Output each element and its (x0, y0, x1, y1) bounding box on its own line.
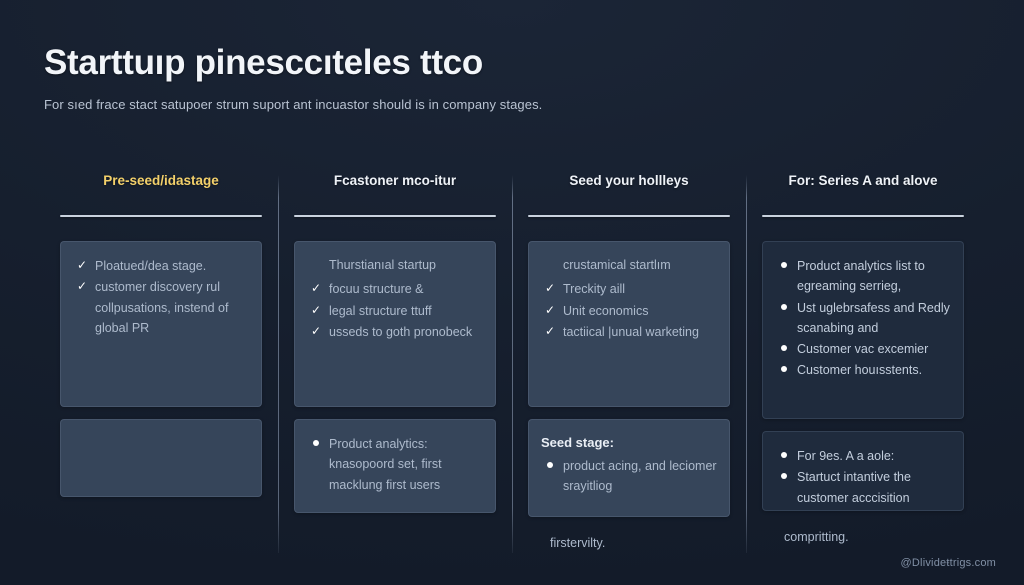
list-item: Startuct intantive the customer acccisit… (775, 467, 951, 508)
list-item-label: Product analytics list to egreaming serr… (797, 259, 925, 293)
card-stack: ✓Ploatued/dea stage.✓customer discovery … (60, 241, 262, 497)
list-item-label: focuu structure & (329, 282, 424, 296)
stage-column-3: Seed your hollleyscrustamical startlım✓T… (512, 172, 746, 553)
column-header-1: Pre-seed/idastage (60, 172, 262, 214)
list-item-label: Startuct intantive the customer acccisit… (797, 470, 911, 504)
card-lead-text: Thurstianıal startup (307, 256, 483, 275)
column-header-3: Seed your hollleys (528, 172, 730, 214)
page-title: Starttuıp pinesccıteles ttco (44, 44, 944, 83)
list-item: Customer vac excemier (775, 339, 951, 359)
bullet-list: ✓Ploatued/dea stage.✓customer discovery … (73, 256, 249, 338)
list-item: Customer houısstents. (775, 360, 951, 380)
check-bullet-icon: ✓ (75, 256, 89, 275)
list-item: ✓legal structure ttuff (307, 301, 483, 321)
column-header-label: For: Series A and alove (788, 172, 937, 190)
stage-column-4: For: Series A and aloveProduct analytics… (746, 172, 980, 553)
column-rule (528, 215, 730, 217)
list-item: product acing, and leciomer srayitliog (541, 456, 717, 497)
stage-columns-grid: Pre-seed/idastage✓Ploatued/dea stage.✓cu… (44, 172, 980, 532)
column-header-4: For: Series A and alove (762, 172, 964, 214)
list-item-label: Treckity aill (563, 282, 625, 296)
bullet-list: Product analytics list to egreaming serr… (775, 256, 951, 381)
bullet-list: ✓Treckity aill✓Unit economics✓tactiical … (541, 279, 717, 342)
column-header-label: Fcastoner mco-itur (334, 172, 456, 190)
list-item: Ust uglebrsafess and Redly scanabing and (775, 298, 951, 339)
list-item: ✓Unit economics (541, 301, 717, 321)
list-item: ✓customer discovery rul collpusations, i… (73, 277, 249, 338)
stage-card[interactable]: Thurstianıal startup✓focuu structure &✓l… (294, 241, 496, 407)
check-bullet-icon: ✓ (543, 279, 557, 298)
check-bullet-icon: ✓ (309, 279, 323, 298)
list-item-label: customer discovery rul collpusations, in… (95, 280, 228, 335)
column-rule (60, 215, 262, 217)
card-stack: Thurstianıal startup✓focuu structure &✓l… (294, 241, 496, 513)
dot-bullet-icon (313, 440, 319, 446)
column-header-2: Fcastoner mco-itur (294, 172, 496, 214)
list-item: ✓tactiical |unual warketing (541, 322, 717, 342)
footer-watermark: @Dlivideŧtrigs.com (901, 557, 996, 569)
dot-bullet-icon (781, 366, 787, 372)
dot-bullet-icon (781, 473, 787, 479)
check-bullet-icon: ✓ (75, 277, 89, 296)
card-overflow-text: firstervilty. (528, 533, 730, 553)
stage-card[interactable]: Product analytics: knasopoord set, first… (294, 419, 496, 513)
check-bullet-icon: ✓ (309, 301, 323, 320)
card-stack: Product analytics list to egreaming serr… (762, 241, 964, 547)
stage-card[interactable]: For 9es. A a aole:Startuct intantive the… (762, 431, 964, 511)
list-item-label: Customer houısstents. (797, 363, 922, 377)
list-item-label: tactiical |unual warketing (563, 325, 699, 339)
column-header-label: Pre-seed/idastage (103, 172, 219, 190)
check-bullet-icon: ✓ (543, 322, 557, 341)
column-rule (294, 215, 496, 217)
stage-card[interactable]: ✓Ploatued/dea stage.✓customer discovery … (60, 241, 262, 407)
stage-card[interactable]: Product analytics list to egreaming serr… (762, 241, 964, 419)
column-rule (762, 215, 964, 217)
list-item-label: Customer vac excemier (797, 342, 928, 356)
column-header-label: Seed your hollleys (569, 172, 688, 190)
dot-bullet-icon (547, 462, 553, 468)
bullet-list: product acing, and leciomer srayitliog (541, 456, 717, 497)
page-header: Starttuıp pinesccıteles ttco For sıed fr… (44, 44, 944, 112)
stage-card[interactable]: Seed stage:product acing, and leciomer s… (528, 419, 730, 517)
list-item: ✓usseds to goth pronobeck (307, 322, 483, 342)
card-title: Seed stage: (541, 434, 717, 452)
list-item-label: Ploatued/dea stage. (95, 259, 206, 273)
list-item-label: Unit economics (563, 304, 648, 318)
list-item: ✓focuu structure & (307, 279, 483, 299)
page-subtitle: For sıed frace stact satupoer strum supo… (44, 97, 944, 112)
list-item: ✓Treckity aill (541, 279, 717, 299)
list-item-label: Ust uglebrsafess and Redly scanabing and (797, 301, 950, 335)
list-item-label: legal structure ttuff (329, 304, 432, 318)
list-item: Product analytics list to egreaming serr… (775, 256, 951, 297)
card-stack: crustamical startlım✓Treckity aill✓Unit … (528, 241, 730, 553)
list-item-label: Product analytics: knasopoord set, first… (329, 437, 442, 492)
bullet-list: Product analytics: knasopoord set, first… (307, 434, 483, 495)
list-item: ✓Ploatued/dea stage. (73, 256, 249, 276)
bullet-list: ✓focuu structure &✓legal structure ttuff… (307, 279, 483, 342)
list-item-label: For 9es. A a aole: (797, 449, 894, 463)
card-overflow-text: compritting. (762, 527, 964, 547)
dot-bullet-icon (781, 345, 787, 351)
stage-column-1: Pre-seed/idastage✓Ploatued/dea stage.✓cu… (44, 172, 278, 553)
list-item: For 9es. A a aole: (775, 446, 951, 466)
stage-card[interactable] (60, 419, 262, 497)
dot-bullet-icon (781, 262, 787, 268)
stage-card[interactable]: crustamical startlım✓Treckity aill✓Unit … (528, 241, 730, 407)
infographic-page: Starttuıp pinesccıteles ttco For sıed fr… (0, 0, 1024, 585)
check-bullet-icon: ✓ (543, 301, 557, 320)
bullet-list: For 9es. A a aole:Startuct intantive the… (775, 446, 951, 508)
card-lead-text: crustamical startlım (541, 256, 717, 275)
list-item-label: usseds to goth pronobeck (329, 325, 472, 339)
dot-bullet-icon (781, 304, 787, 310)
stage-column-2: Fcastoner mco-iturThurstianıal startup✓f… (278, 172, 512, 553)
list-item-label: product acing, and leciomer srayitliog (563, 459, 717, 493)
dot-bullet-icon (781, 452, 787, 458)
check-bullet-icon: ✓ (309, 322, 323, 341)
list-item: Product analytics: knasopoord set, first… (307, 434, 483, 495)
